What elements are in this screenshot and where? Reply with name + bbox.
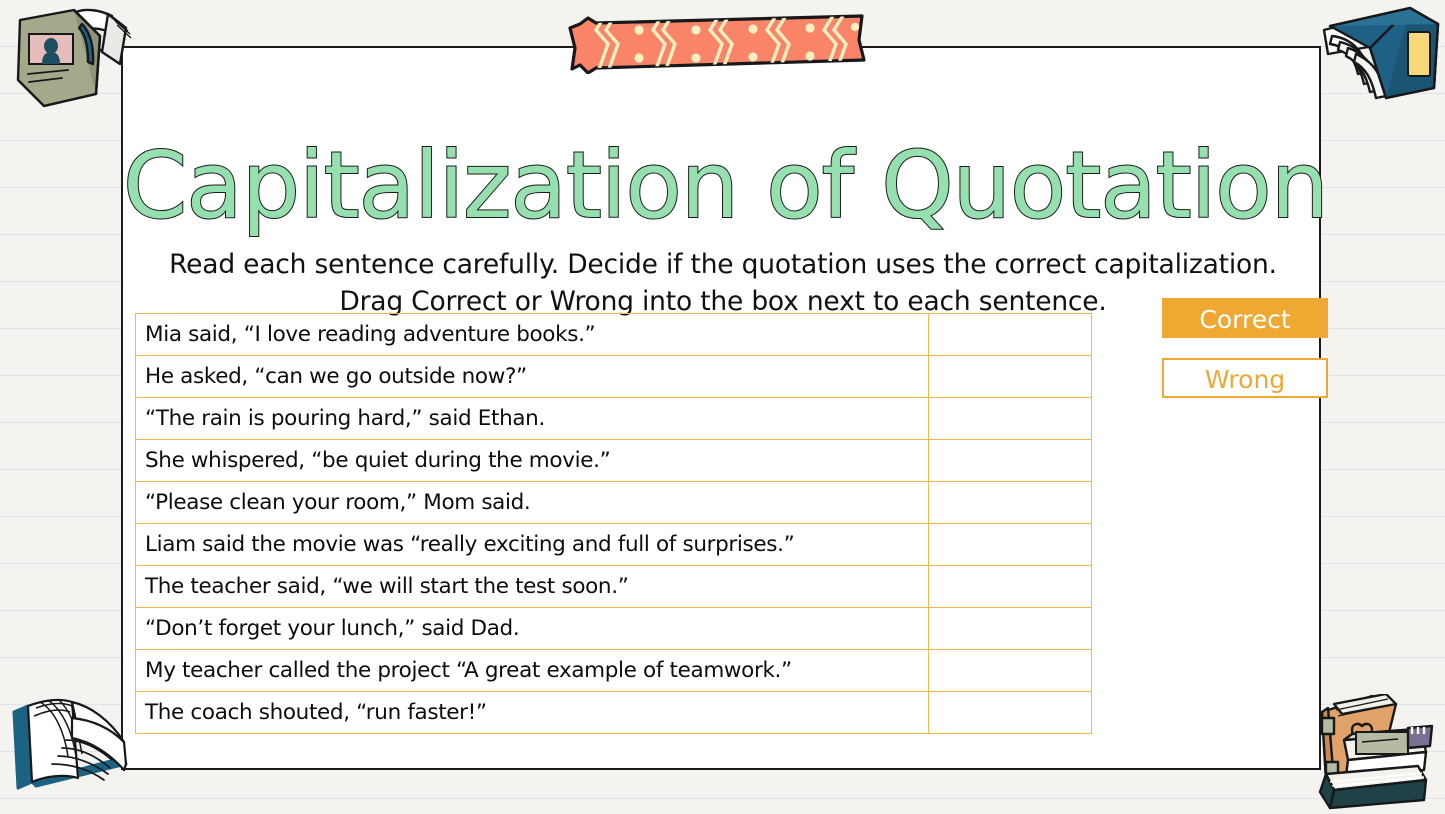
sentence-text: “Please clean your room,” Mom said. bbox=[136, 482, 929, 524]
worksheet-page: Capitalization of Quotation Read each se… bbox=[0, 0, 1445, 814]
wrong-chip[interactable]: Wrong bbox=[1162, 358, 1328, 398]
sentence-text: “The rain is pouring hard,” said Ethan. bbox=[136, 398, 929, 440]
book-top-right-icon bbox=[1310, 2, 1443, 112]
sentence-text: She whispered, “be quiet during the movi… bbox=[136, 440, 929, 482]
answer-drop-zone[interactable] bbox=[929, 566, 1092, 608]
sentence-text: The coach shouted, “run faster!” bbox=[136, 692, 929, 734]
sentence-text: He asked, “can we go outside now?” bbox=[136, 356, 929, 398]
table-row: “Don’t forget your lunch,” said Dad. bbox=[136, 608, 1092, 650]
answer-drop-zone[interactable] bbox=[929, 650, 1092, 692]
book-bottom-left-icon bbox=[6, 686, 146, 808]
answer-drop-zone[interactable] bbox=[929, 482, 1092, 524]
sentence-text: The teacher said, “we will start the tes… bbox=[136, 566, 929, 608]
answer-drop-zone[interactable] bbox=[929, 692, 1092, 734]
book-bottom-right-icon bbox=[1300, 694, 1444, 812]
sentence-text: “Don’t forget your lunch,” said Dad. bbox=[136, 608, 929, 650]
answer-chip-tray: Correct Wrong bbox=[1162, 298, 1332, 398]
answer-drop-zone[interactable] bbox=[929, 356, 1092, 398]
page-title: Capitalization of Quotation bbox=[123, 138, 1323, 234]
sentence-table: Mia said, “I love reading adventure book… bbox=[135, 313, 1092, 734]
table-row: “Please clean your room,” Mom said. bbox=[136, 482, 1092, 524]
instruction-line-1: Read each sentence carefully. Decide if … bbox=[163, 246, 1283, 283]
sentence-text: Liam said the movie was “really exciting… bbox=[136, 524, 929, 566]
table-row: The teacher said, “we will start the tes… bbox=[136, 566, 1092, 608]
correct-chip[interactable]: Correct bbox=[1162, 298, 1328, 338]
answer-drop-zone[interactable] bbox=[929, 314, 1092, 356]
table-row: He asked, “can we go outside now?” bbox=[136, 356, 1092, 398]
table-row: Mia said, “I love reading adventure book… bbox=[136, 314, 1092, 356]
sentence-text: Mia said, “I love reading adventure book… bbox=[136, 314, 929, 356]
table-row: Liam said the movie was “really exciting… bbox=[136, 524, 1092, 566]
sentence-text: My teacher called the project “A great e… bbox=[136, 650, 929, 692]
book-top-left-icon bbox=[4, 2, 136, 114]
answer-drop-zone[interactable] bbox=[929, 524, 1092, 566]
table-row: The coach shouted, “run faster!” bbox=[136, 692, 1092, 734]
answer-drop-zone[interactable] bbox=[929, 440, 1092, 482]
answer-drop-zone[interactable] bbox=[929, 398, 1092, 440]
instructions: Read each sentence carefully. Decide if … bbox=[163, 246, 1283, 320]
washi-tape-icon bbox=[566, 12, 866, 74]
answer-drop-zone[interactable] bbox=[929, 608, 1092, 650]
table-row: My teacher called the project “A great e… bbox=[136, 650, 1092, 692]
table-row: She whispered, “be quiet during the movi… bbox=[136, 440, 1092, 482]
worksheet-card: Capitalization of Quotation Read each se… bbox=[121, 46, 1321, 770]
table-row: “The rain is pouring hard,” said Ethan. bbox=[136, 398, 1092, 440]
